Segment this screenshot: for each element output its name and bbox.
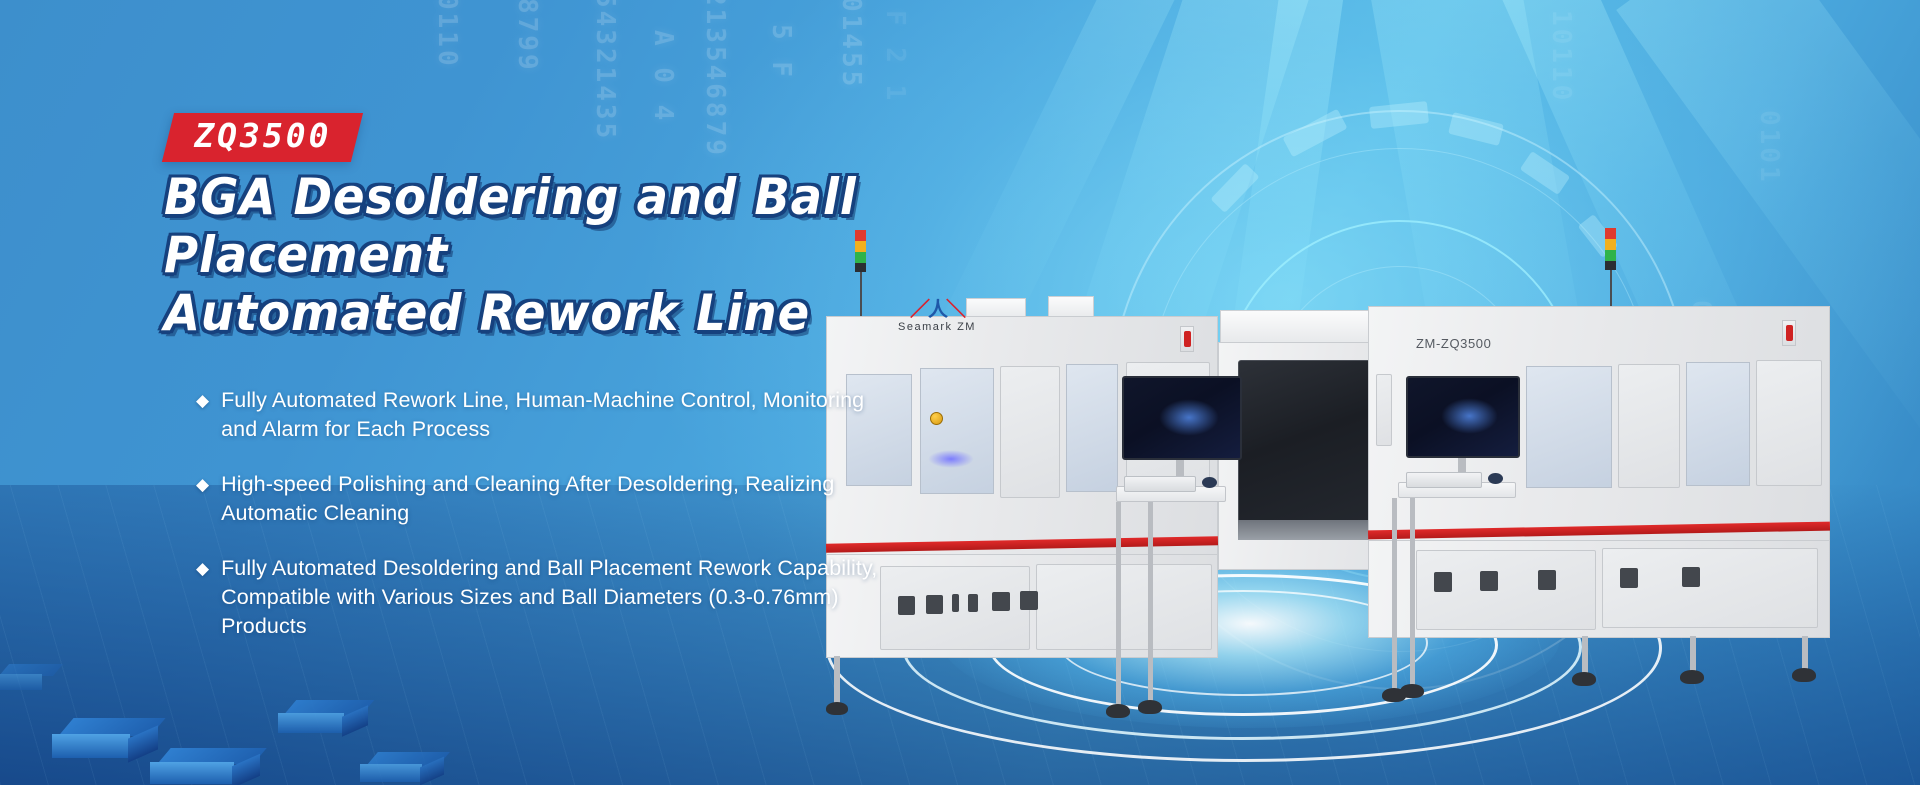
machine-foot [1400,684,1424,698]
hud-segment [1369,101,1429,129]
list-item: ◆ Fully Automated Desoldering and Ball P… [196,554,896,641]
machine-leg [1116,502,1121,710]
monitor-glow [1441,398,1498,434]
fan-vent [1434,572,1452,592]
machine-leg [1392,498,1397,694]
keyboard-right[interactable] [1406,472,1482,488]
fan-vent [1480,571,1498,591]
diamond-bullet-icon: ◆ [196,555,209,583]
monitor-glow [1159,399,1219,436]
fan-vent [1538,570,1556,590]
cabinet-door [1618,364,1680,488]
lower-door [1036,564,1212,650]
feature-text: High-speed Polishing and Cleaning After … [221,470,896,528]
control-panel[interactable] [1376,374,1392,446]
page-title: BGA Desoldering and Ball Placement Autom… [164,168,1094,342]
machine-foot [1572,672,1596,686]
extinguisher-icon [1184,331,1191,347]
model-label: ZM-ZQ3500 [1416,336,1491,351]
cabinet-window [1526,366,1612,488]
model-badge: ZQ3500 [162,113,363,162]
tower-amber [1605,239,1616,250]
keyboard-left[interactable] [1124,476,1196,492]
fan-vent [1020,591,1038,610]
operator-monitor-left[interactable] [1122,376,1242,460]
tower-base [1605,261,1616,270]
list-item: ◆ High-speed Polishing and Cleaning Afte… [196,470,896,528]
feature-text: Fully Automated Rework Line, Human-Machi… [221,386,896,444]
diamond-bullet-icon: ◆ [196,471,209,499]
fire-extinguisher-box [1782,320,1796,346]
mouse-left[interactable] [1202,477,1217,488]
product-banner: 213546879 01455 0110 54321435 A 0 4 5 F … [0,0,1920,785]
status-tower-light [1605,228,1616,270]
diamond-bullet-icon: ◆ [196,387,209,415]
cabinet-door [1756,360,1822,486]
fan-vent [1620,568,1638,588]
model-badge-text: ZQ3500 [194,119,331,154]
machine-foot [1792,668,1816,682]
machine-foot [1106,704,1130,718]
code-column: 0101 [1754,110,1784,185]
fire-extinguisher-box [1180,326,1194,352]
content-column: ZQ3500 BGA Desoldering and Ball Placemen… [0,0,1010,785]
extinguisher-icon [1786,325,1793,341]
hud-segment [1520,151,1570,195]
lower-door [1602,548,1818,628]
fan-vent [1682,567,1700,587]
machine-leg [1410,498,1415,690]
code-column: 10110 [1546,10,1576,103]
machine-foot [1138,700,1162,714]
tower-green [1605,250,1616,261]
hud-segment [1282,109,1347,158]
cabinet-window [1066,364,1118,492]
feature-text: Fully Automated Desoldering and Ball Pla… [221,554,896,641]
feature-list: ◆ Fully Automated Rework Line, Human-Mac… [196,386,896,667]
machine-leg [1148,502,1153,706]
operator-monitor-right[interactable] [1406,376,1520,458]
list-item: ◆ Fully Automated Rework Line, Human-Mac… [196,386,896,444]
hud-segment [1210,163,1259,213]
cabinet-window [1686,362,1750,486]
hud-segment [1448,112,1504,146]
mouse-right[interactable] [1488,473,1503,484]
machine-foot [1680,670,1704,684]
tower-red [1605,228,1616,239]
